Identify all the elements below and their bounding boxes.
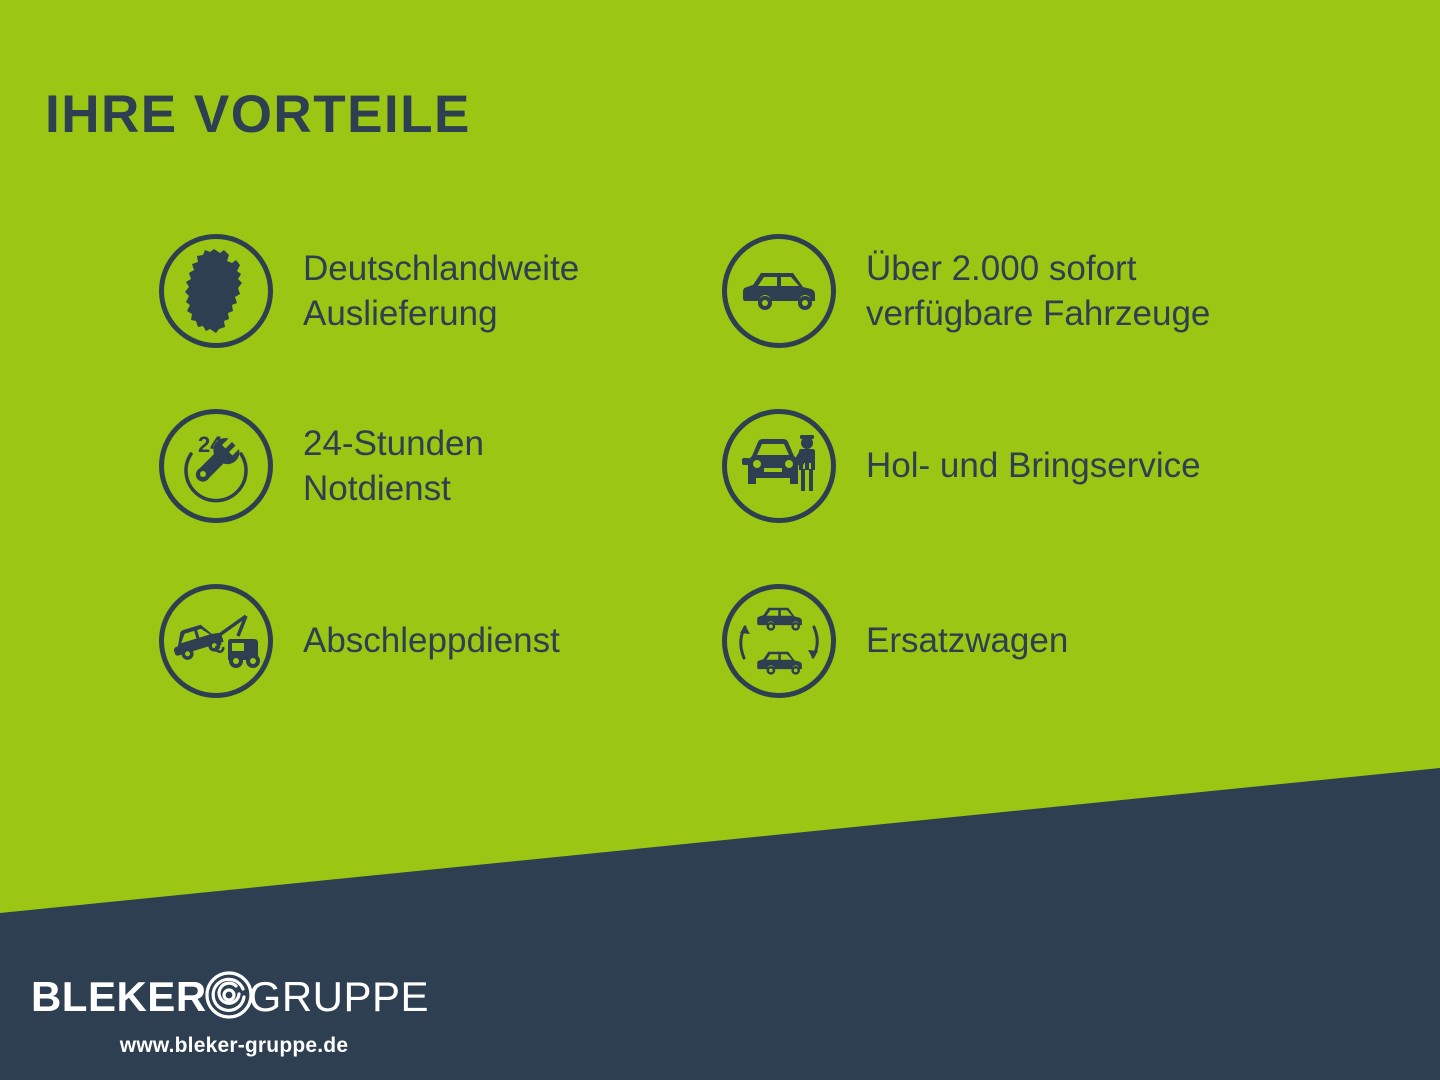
- feature-label: Deutschlandweite Auslieferung: [303, 246, 579, 337]
- car-with-driver-icon: [722, 409, 836, 523]
- features-grid: Deutschlandweite Auslieferung Über 2.000…: [0, 0, 1440, 760]
- feature-item-abschleppdienst[interactable]: Abschleppdienst: [159, 584, 560, 698]
- feature-label: Ersatzwagen: [866, 618, 1068, 664]
- feature-label: Abschleppdienst: [303, 618, 560, 664]
- footer-logo[interactable]: BLEKER GRUPPE www.bleker-gruppe.de: [30, 969, 430, 1058]
- car-side-icon: [722, 234, 836, 348]
- logo-primary-text: BLEKER: [31, 976, 207, 1018]
- feature-item-deutschlandweite-auslieferung[interactable]: Deutschlandweite Auslieferung: [159, 234, 579, 348]
- feature-item-ersatzwagen[interactable]: Ersatzwagen: [722, 584, 1068, 698]
- 24h-wrench-icon: 24: [159, 409, 273, 523]
- logo-wordmark: BLEKER GRUPPE: [30, 969, 430, 1025]
- feature-label: 24-Stunden Notdienst: [303, 421, 484, 512]
- tow-truck-icon: [159, 584, 273, 698]
- germany-map-icon: [159, 234, 273, 348]
- feature-label: Über 2.000 sofort verfügbare Fahrzeuge: [866, 246, 1210, 337]
- feature-label: Hol- und Bringservice: [866, 443, 1201, 489]
- two-cars-exchange-icon: [722, 584, 836, 698]
- feature-item-hol-und-bringservice[interactable]: Hol- und Bringservice: [722, 409, 1201, 523]
- slide-root: IHRE VORTEILE Deutschlandweite Ausliefer…: [0, 0, 1440, 1080]
- spiral-circle-icon: [203, 969, 255, 1025]
- logo-secondary-text: GRUPPE: [249, 976, 429, 1018]
- feature-item-24-stunden-notdienst[interactable]: 24 24-Stunden Notdienst: [159, 409, 484, 523]
- logo-url[interactable]: www.bleker-gruppe.de: [30, 1034, 430, 1058]
- feature-item-verfuegbare-fahrzeuge[interactable]: Über 2.000 sofort verfügbare Fahrzeuge: [722, 234, 1210, 348]
